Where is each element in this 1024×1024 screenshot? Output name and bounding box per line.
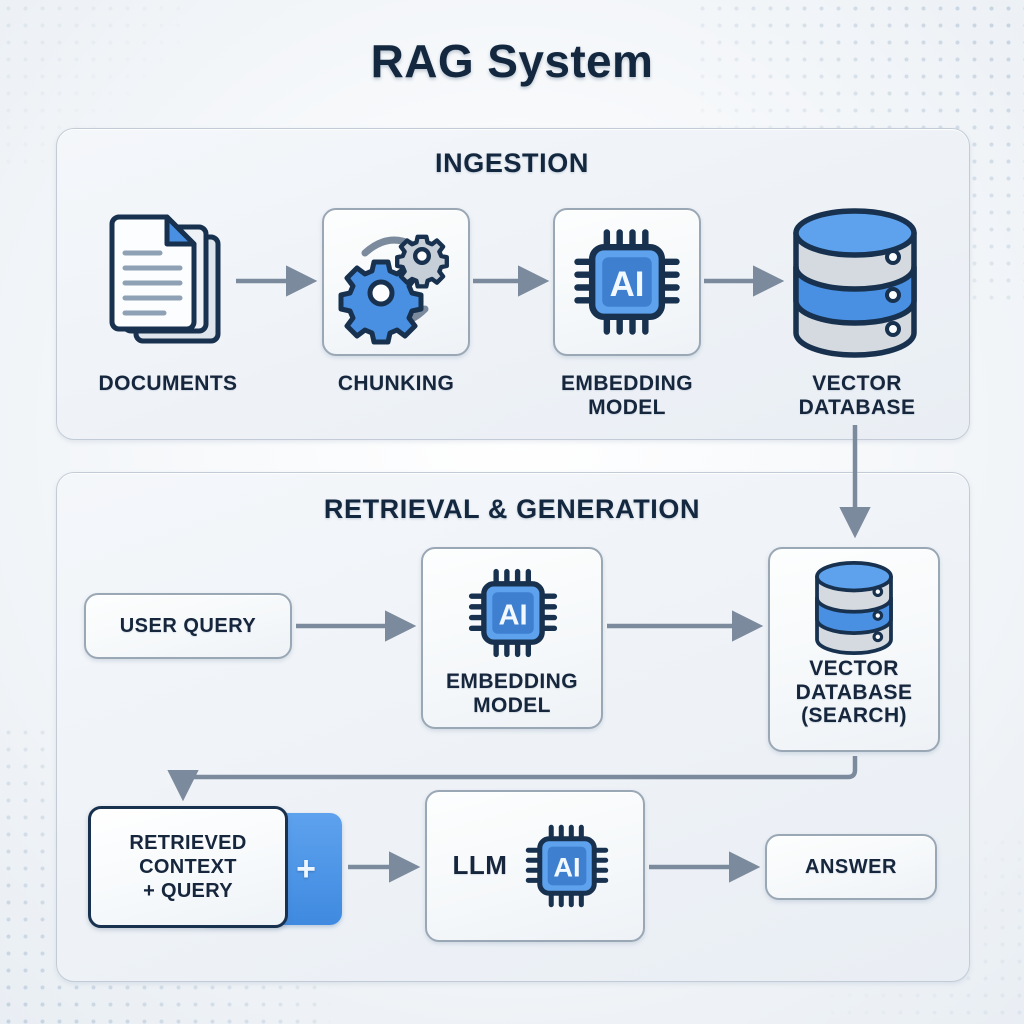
diagram-canvas: RAG System INGESTION DOCUMENTS bbox=[0, 0, 1024, 1024]
label-vector-database: VECTOR DATABASE bbox=[762, 372, 952, 419]
label-embedding-model-query: EMBEDDING MODEL bbox=[421, 670, 603, 717]
svg-text:AI: AI bbox=[553, 852, 580, 883]
documents-icon bbox=[98, 205, 248, 355]
svg-text:AI: AI bbox=[610, 265, 645, 304]
ai-chip-icon: AI bbox=[467, 567, 559, 659]
node-retrieved-context[interactable]: RETRIEVED CONTEXT + QUERY bbox=[88, 806, 288, 928]
page-title: RAG System bbox=[0, 34, 1024, 88]
label-chunking: CHUNKING bbox=[300, 372, 492, 396]
database-icon bbox=[812, 560, 896, 656]
gears-icon bbox=[337, 223, 455, 341]
label-vector-database-search: VECTOR DATABASE (SEARCH) bbox=[768, 657, 940, 728]
plus-icon: + bbox=[282, 813, 330, 925]
label-llm: LLM bbox=[437, 842, 523, 890]
database-icon bbox=[788, 207, 922, 359]
label-embedding-model: EMBEDDING MODEL bbox=[527, 372, 727, 419]
ai-chip-icon: AI bbox=[572, 227, 682, 337]
panel-retrieval-generation-title: RETRIEVAL & GENERATION bbox=[56, 494, 968, 525]
svg-text:AI: AI bbox=[498, 600, 527, 632]
label-documents: DOCUMENTS bbox=[62, 372, 274, 396]
panel-ingestion-title: INGESTION bbox=[56, 148, 968, 179]
ai-chip-icon: AI bbox=[524, 823, 610, 909]
node-user-query[interactable]: USER QUERY bbox=[84, 593, 292, 659]
node-answer[interactable]: ANSWER bbox=[765, 834, 937, 900]
